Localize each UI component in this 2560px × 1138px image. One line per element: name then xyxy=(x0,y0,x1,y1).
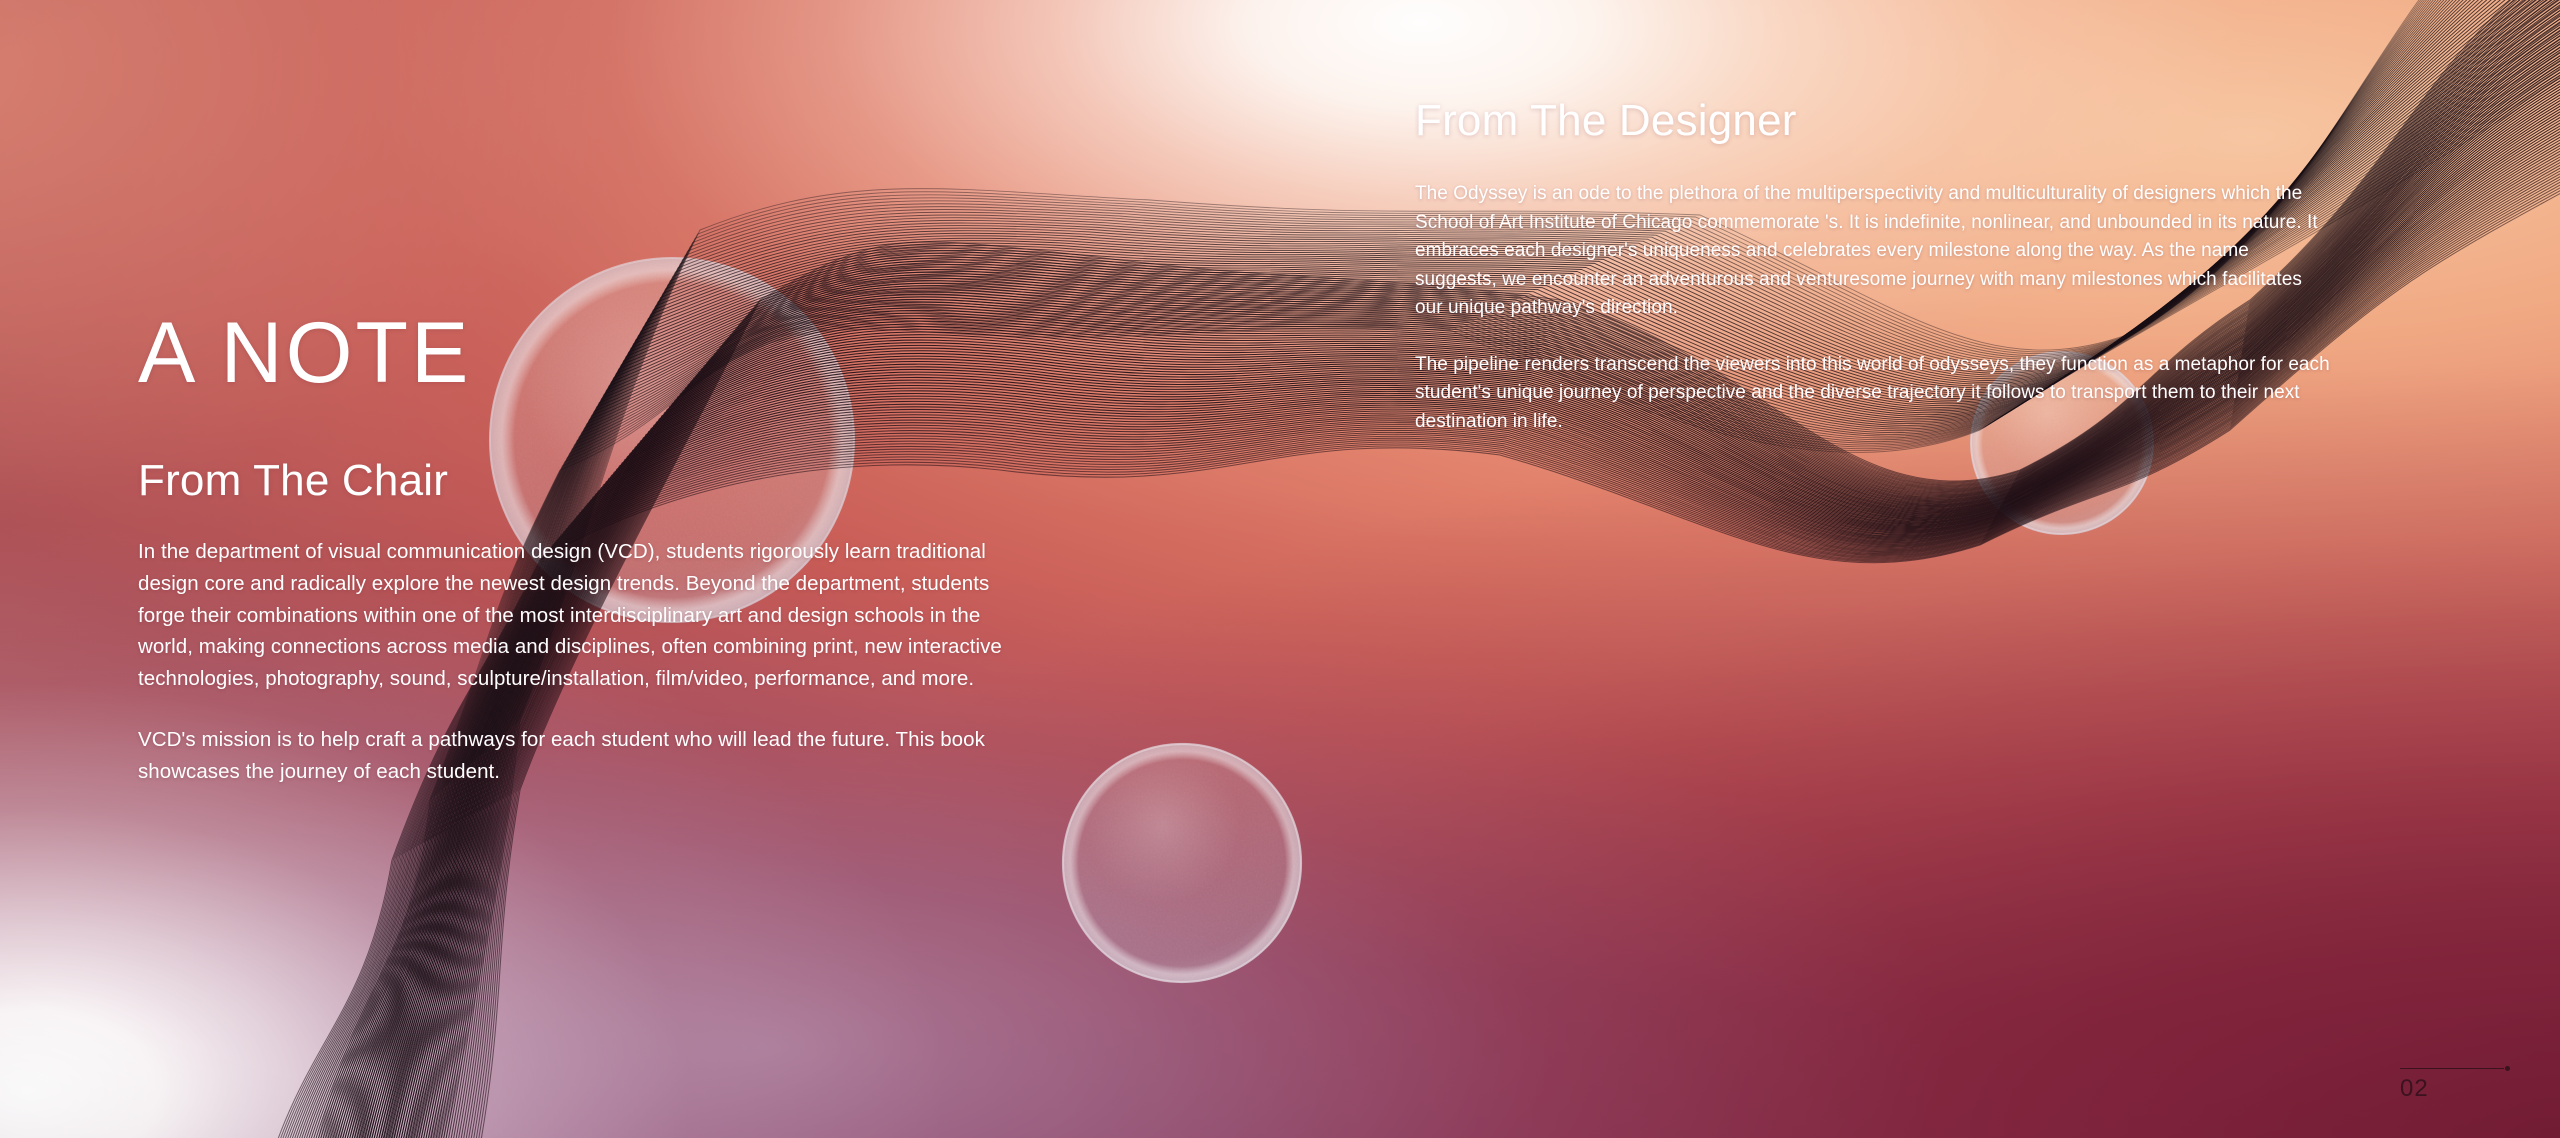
page-title: A NOTE xyxy=(138,310,1038,396)
sphere-lower-center xyxy=(1062,743,1302,983)
left-text-column: A NOTE From The Chair In the department … xyxy=(138,310,1038,788)
folio: 02 xyxy=(2400,1064,2518,1102)
left-paragraph-2: VCD's mission is to help craft a pathway… xyxy=(138,724,1038,788)
folio-rule-dot-icon xyxy=(2505,1066,2510,1071)
folio-rule-wrap xyxy=(2400,1064,2510,1074)
folio-page-number: 02 xyxy=(2400,1076,2518,1102)
folio-rule-line xyxy=(2400,1068,2504,1069)
right-column-subtitle: From The Designer xyxy=(1415,98,2330,144)
spread-page: A NOTE From The Chair In the department … xyxy=(0,0,2560,1138)
right-paragraph-1: The Odyssey is an ode to the plethora of… xyxy=(1415,180,2330,323)
left-paragraph-1: In the department of visual communicatio… xyxy=(138,536,1038,695)
right-paragraph-2: The pipeline renders transcend the viewe… xyxy=(1415,351,2330,437)
left-column-subtitle: From The Chair xyxy=(138,458,1038,504)
right-text-column: From The Designer The Odyssey is an ode … xyxy=(1415,98,2330,464)
